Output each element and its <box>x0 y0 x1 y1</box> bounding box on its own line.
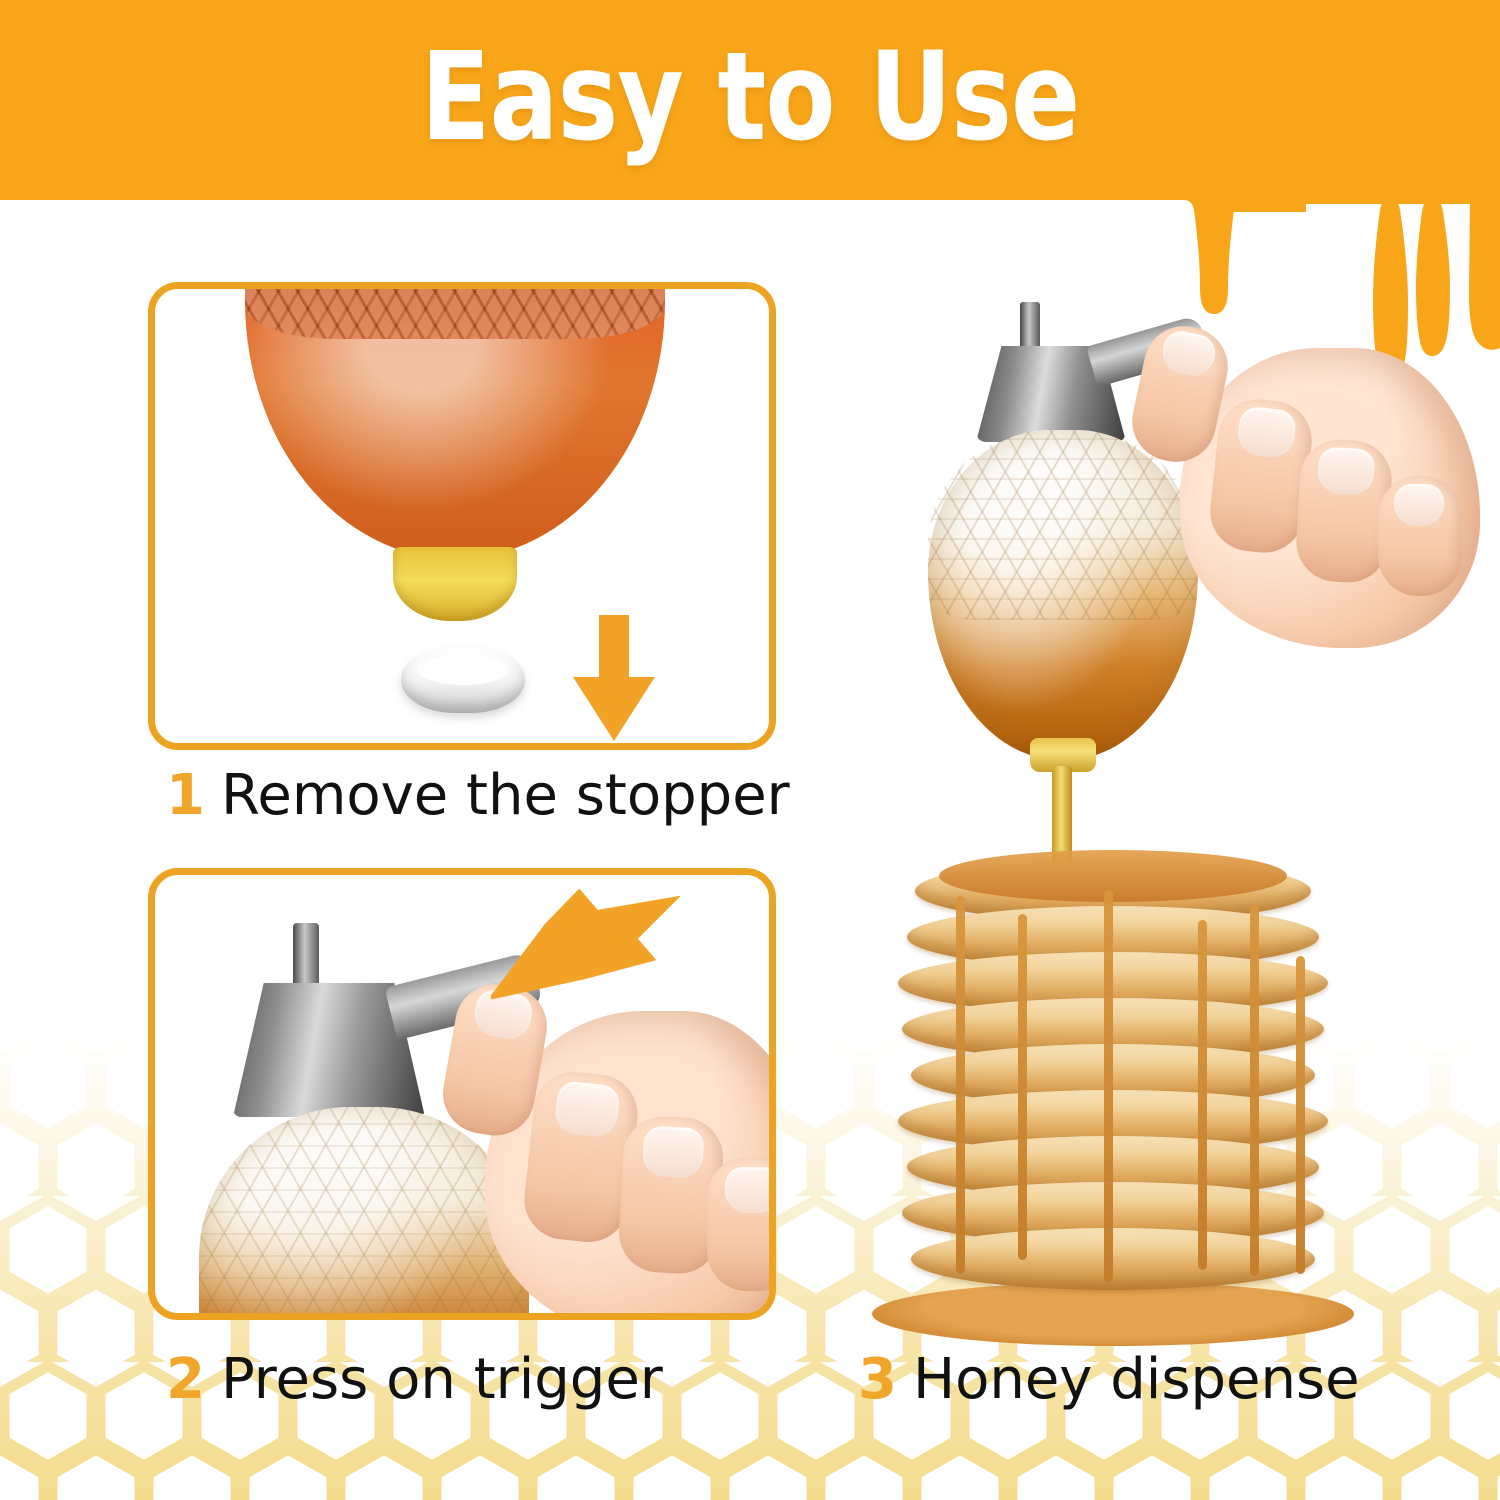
white-stopper <box>401 647 525 713</box>
fingernail <box>1236 406 1297 460</box>
honey-drip <box>1250 904 1259 1276</box>
pancake-stack <box>898 860 1328 1330</box>
fingernail <box>1394 484 1444 526</box>
hand <box>1180 348 1480 648</box>
step-1-caption: 1Remove the stopper <box>166 768 790 824</box>
dispenser-jar-honeycomb-texture <box>199 1107 529 1313</box>
arrow-down-icon <box>555 615 675 741</box>
step-1-number: 1 <box>166 763 205 828</box>
step-3-number: 3 <box>858 1347 897 1412</box>
step-2-illustration <box>155 875 769 1313</box>
fingernail <box>1317 447 1375 496</box>
honey-jar-neck <box>393 547 517 621</box>
page-title: Easy to Use <box>53 36 1448 158</box>
honey-jar-honeycomb-texture <box>245 289 665 339</box>
fingernail <box>725 1167 769 1213</box>
honey-puddle <box>872 1282 1354 1346</box>
step-3-caption: 3Honey dispense <box>858 1352 1360 1408</box>
honey-drip <box>956 896 965 1274</box>
honey-drip <box>1018 914 1027 1260</box>
header-banner: Easy to Use <box>0 0 1500 196</box>
honey-drip <box>1296 956 1305 1274</box>
step-2-caption: 2Press on trigger <box>166 1352 663 1408</box>
step-3-scene <box>880 300 1480 1330</box>
little-finger <box>707 1157 769 1291</box>
arrow-down-left-icon <box>491 883 681 1015</box>
fingernail <box>642 1126 705 1179</box>
step-2-label: Press on trigger <box>221 1347 663 1412</box>
hand <box>485 1011 769 1313</box>
fingernail <box>553 1080 620 1138</box>
fingernail <box>1159 328 1219 380</box>
step-1-illustration <box>155 289 769 743</box>
step-2-panel <box>148 868 776 1320</box>
step-2-number: 2 <box>166 1347 205 1412</box>
honey-drip <box>1198 920 1207 1270</box>
honey-drip <box>1104 890 1113 1282</box>
little-finger <box>1378 476 1462 596</box>
step-1-label: Remove the stopper <box>221 763 790 828</box>
step-1-panel <box>148 282 776 750</box>
step-3-label: Honey dispense <box>913 1347 1360 1412</box>
